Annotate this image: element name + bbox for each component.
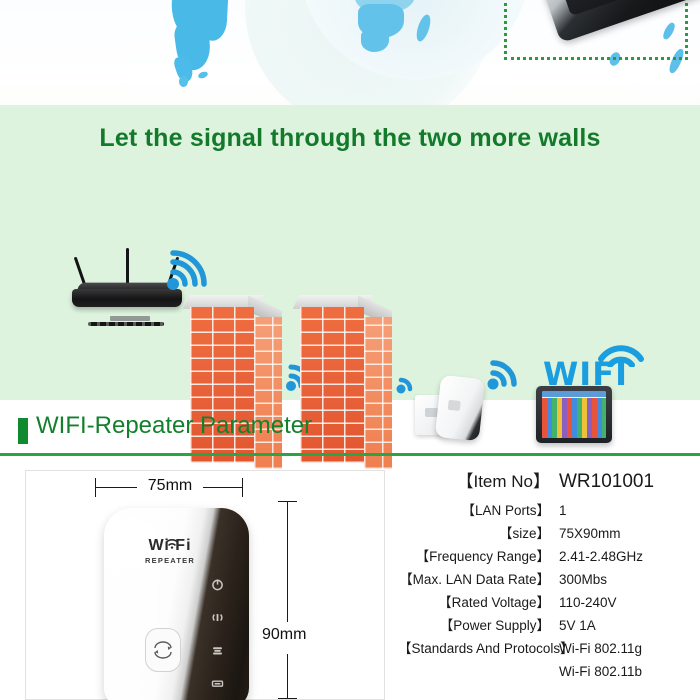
tablet-photo [522, 0, 700, 43]
table-row: 【Max. LAN Data Rate】 300Mbs [398, 568, 700, 588]
world-map-banner [0, 0, 700, 105]
height-dimension-line [287, 501, 288, 699]
spec-label: 【size】 [398, 522, 559, 542]
product-detail-page: Let the signal through the two more wall… [0, 0, 700, 700]
height-dimension-tick-top [278, 501, 297, 502]
wifi-signal-icon-3 [396, 370, 420, 394]
tablet-highlight-box [504, 0, 688, 60]
spec-label: 【Power Supply】 [398, 614, 559, 634]
wifi-signal-icon [211, 611, 224, 624]
spec-value: 2.41-2.48GHz [559, 549, 700, 564]
spec-label: 【Item No】 [398, 467, 559, 492]
spec-label: 【Rated Voltage】 [398, 591, 559, 611]
section-divider [0, 453, 700, 456]
tablet-status-bar [542, 391, 606, 397]
signal-illustration-band: Let the signal through the two more wall… [0, 105, 700, 400]
wifi-arc-icon [165, 536, 179, 554]
repeater-button [448, 400, 461, 411]
table-row: 【Standards And Protocols】 Wi-Fi 802.11g [398, 637, 700, 657]
repeater-product-photo: Wi Fi REPEATER [104, 508, 249, 700]
wifi-signal-icon-4 [486, 355, 522, 391]
width-dimension-tick-left [95, 478, 96, 497]
table-row: 【Item No】 WR101001 [398, 467, 700, 493]
falkland-islands-shape [197, 70, 208, 79]
spec-value: Wi-Fi 802.11g [559, 641, 700, 656]
spec-table: 【Item No】 WR101001 【LAN Ports】 1 【size】 … [398, 467, 700, 682]
power-icon [211, 578, 224, 591]
spec-value: 300Mbs [559, 572, 700, 587]
height-dimension-tick-bottom [278, 698, 297, 699]
table-row: Wi-Fi 802.11b [398, 664, 700, 679]
width-dimension-tick-right [242, 478, 243, 497]
spec-label: 【Standards And Protocols】 [398, 637, 559, 657]
table-row: 【LAN Ports】 1 [398, 499, 700, 519]
height-dimension-label: 90mm [262, 626, 306, 644]
parameter-section-header: WIFI-Repeater Parameter [0, 412, 700, 456]
table-row: 【Rated Voltage】 110-240V [398, 591, 700, 611]
spec-value: Wi-Fi 802.11b [559, 664, 700, 679]
width-dimension-label: 75mm [137, 477, 203, 495]
spec-label: 【LAN Ports】 [398, 499, 559, 519]
table-row: 【size】 75X90mm [398, 522, 700, 542]
ethernet-icon [211, 644, 224, 657]
router-brand-label [110, 316, 150, 321]
wps-refresh-icon [152, 640, 174, 665]
promo-headline: Let the signal through the two more wall… [0, 124, 700, 153]
spec-label: 【Frequency Range】 [398, 545, 559, 565]
wifi-signal-icon-1 [165, 250, 207, 292]
spec-value: 5V 1A [559, 618, 700, 633]
section-accent-bar [18, 418, 28, 444]
spec-value: WR101001 [559, 471, 700, 493]
wps-button[interactable] [145, 628, 181, 672]
lan-port-icon [211, 677, 224, 690]
tierra-del-fuego-shape [179, 76, 188, 87]
wifi-wordmark-arc-icon [597, 337, 645, 372]
repeater-brand-logo: Wi Fi REPEATER [134, 538, 206, 565]
page-title: WIFI-Repeater Parameter [36, 412, 312, 440]
table-row: 【Power Supply】 5V 1A [398, 614, 700, 634]
spec-value: 110-240V [559, 595, 700, 610]
repeater-led-column [211, 578, 229, 700]
repeater-brand-subtext: REPEATER [134, 556, 206, 565]
spec-value: 1 [559, 503, 700, 518]
router-led-strip [88, 322, 164, 326]
table-row: 【Frequency Range】 2.41-2.48GHz [398, 545, 700, 565]
spec-value: 75X90mm [559, 526, 700, 541]
spec-label: 【Max. LAN Data Rate】 [398, 568, 559, 588]
